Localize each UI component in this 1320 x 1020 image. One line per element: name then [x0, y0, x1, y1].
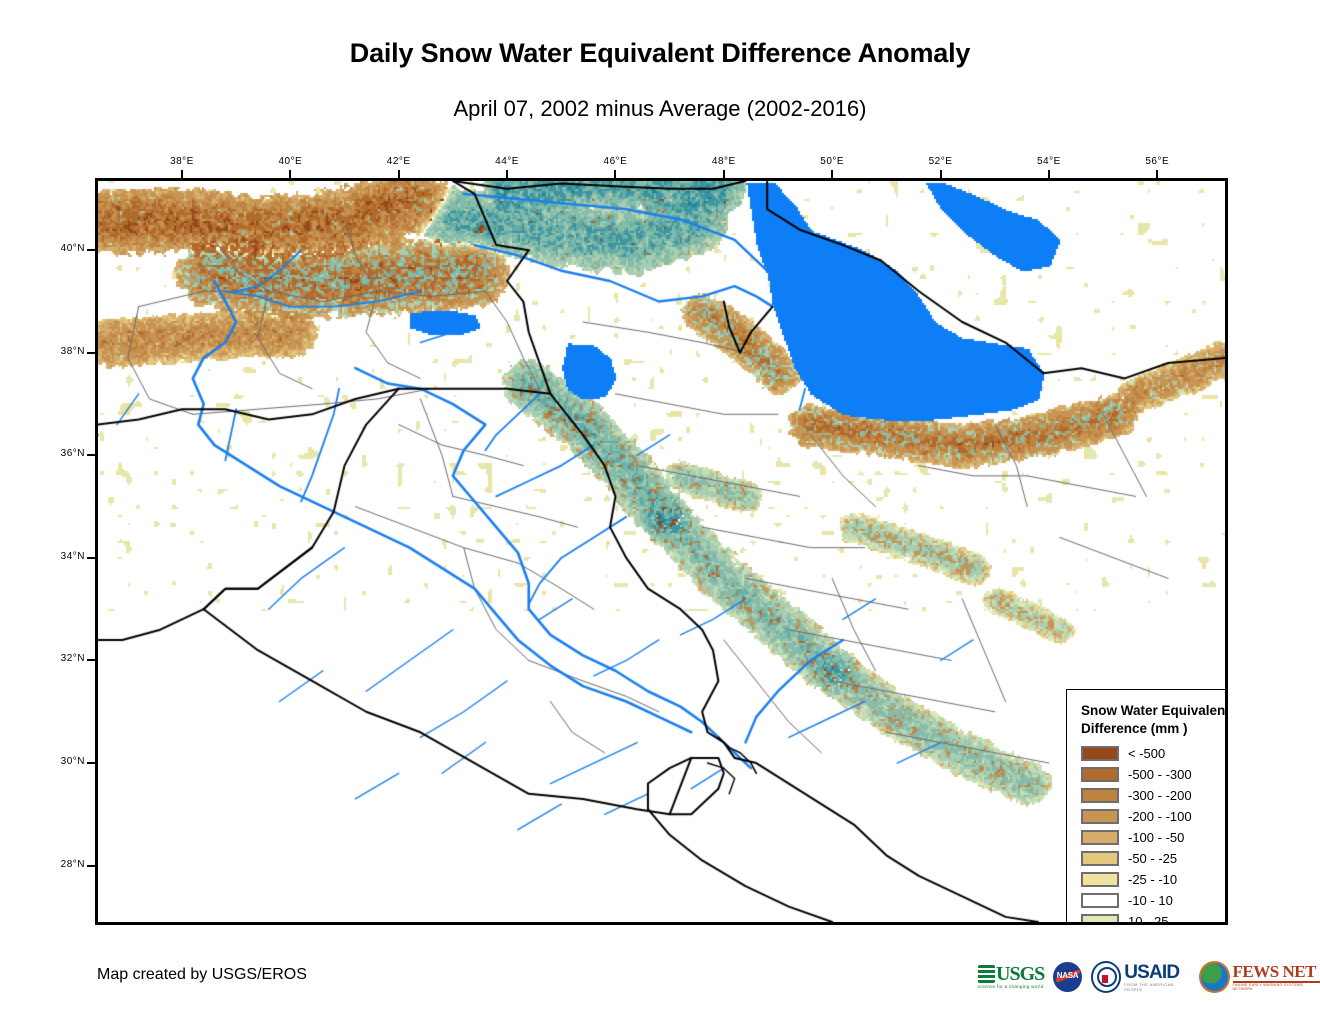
- map-frame[interactable]: Snow Water Equivalent Difference (mm ) <…: [95, 178, 1228, 925]
- agency-logo-row: USGS science for a changing world NASA U…: [978, 957, 1320, 997]
- lon-tick-label: 44°E: [477, 156, 537, 167]
- legend-swatch: [1081, 767, 1119, 782]
- map-raster[interactable]: [98, 181, 1225, 922]
- legend-row: -100 - -50: [1081, 827, 1228, 848]
- map-legend: Snow Water Equivalent Difference (mm ) <…: [1066, 689, 1228, 925]
- legend-title-line1: Snow Water Equivalent: [1081, 702, 1228, 720]
- lon-tick-label: 46°E: [585, 156, 645, 167]
- legend-row: < -500: [1081, 743, 1228, 764]
- lon-tick-label: 54°E: [1019, 156, 1079, 167]
- legend-label: -200 - -100: [1128, 809, 1192, 824]
- usgs-wave-icon: [978, 965, 995, 983]
- lat-tick-label: 36°N: [25, 448, 85, 459]
- nasa-logo: NASA: [1053, 962, 1081, 992]
- lat-tick-label: 34°N: [25, 551, 85, 562]
- lat-tick-label: 32°N: [25, 653, 85, 664]
- usaid-logo: USAID FROM THE AMERICAN PEOPLE: [1091, 961, 1190, 993]
- legend-row: -200 - -100: [1081, 806, 1228, 827]
- legend-row: -25 - -10: [1081, 869, 1228, 890]
- legend-label: -100 - -50: [1128, 830, 1184, 845]
- legend-row: 10 - 25: [1081, 911, 1228, 925]
- lon-tick-label: 50°E: [802, 156, 862, 167]
- usgs-logo: USGS science for a changing world: [978, 965, 1044, 989]
- lon-tick-label: 52°E: [911, 156, 971, 167]
- legend-row: -50 - -25: [1081, 848, 1228, 869]
- map-credit: Map created by USGS/EROS: [97, 966, 307, 984]
- legend-swatch: [1081, 809, 1119, 824]
- lat-tick-label: 40°N: [25, 243, 85, 254]
- page-subtitle: April 07, 2002 minus Average (2002-2016): [0, 96, 1320, 122]
- usgs-logo-subtext: science for a changing world: [978, 984, 1044, 989]
- lon-tick-label: 38°E: [152, 156, 212, 167]
- legend-row: -10 - 10: [1081, 890, 1228, 911]
- legend-swatch: [1081, 914, 1119, 925]
- nasa-logo-text: NASA: [1053, 971, 1081, 980]
- lon-tick-label: 42°E: [369, 156, 429, 167]
- usgs-logo-text: USGS: [996, 965, 1044, 983]
- legend-label: < -500: [1128, 746, 1165, 761]
- legend-label: 10 - 25: [1128, 914, 1168, 925]
- lon-tick-label: 56°E: [1127, 156, 1187, 167]
- fews-logo-text: FEWS NET: [1233, 963, 1320, 980]
- legend-row: -500 - -300: [1081, 764, 1228, 785]
- legend-class-list: < -500-500 - -300-300 - -200-200 - -100-…: [1081, 743, 1228, 925]
- legend-label: -300 - -200: [1128, 788, 1192, 803]
- fews-net-logo: FEWS NET FAMINE EARLY WARNING SYSTEMS NE…: [1199, 961, 1320, 993]
- page-title: Daily Snow Water Equivalent Difference A…: [0, 38, 1320, 69]
- legend-swatch: [1081, 746, 1119, 761]
- lat-tick-label: 30°N: [25, 756, 85, 767]
- fews-logo-subtext: FAMINE EARLY WARNING SYSTEMS NETWORK: [1233, 983, 1320, 991]
- usaid-seal-icon: [1091, 961, 1121, 993]
- legend-label: -25 - -10: [1128, 872, 1177, 887]
- usaid-logo-subtext: FROM THE AMERICAN PEOPLE: [1124, 982, 1190, 992]
- legend-swatch: [1081, 830, 1119, 845]
- legend-label: -500 - -300: [1128, 767, 1192, 782]
- legend-title-line2: Difference (mm ): [1081, 720, 1228, 738]
- map-page: Daily Snow Water Equivalent Difference A…: [0, 0, 1320, 1020]
- legend-label: -10 - 10: [1128, 893, 1173, 908]
- fews-globe-icon: [1199, 961, 1230, 993]
- legend-swatch: [1081, 893, 1119, 908]
- legend-swatch: [1081, 872, 1119, 887]
- legend-title: Snow Water Equivalent Difference (mm ): [1081, 702, 1228, 737]
- legend-swatch: [1081, 788, 1119, 803]
- legend-row: -300 - -200: [1081, 785, 1228, 806]
- lat-tick-label: 38°N: [25, 346, 85, 357]
- lat-tick-label: 28°N: [25, 859, 85, 870]
- lon-tick-label: 40°E: [260, 156, 320, 167]
- lon-tick-label: 48°E: [694, 156, 754, 167]
- legend-swatch: [1081, 851, 1119, 866]
- legend-label: -50 - -25: [1128, 851, 1177, 866]
- usaid-logo-text: USAID: [1124, 963, 1190, 982]
